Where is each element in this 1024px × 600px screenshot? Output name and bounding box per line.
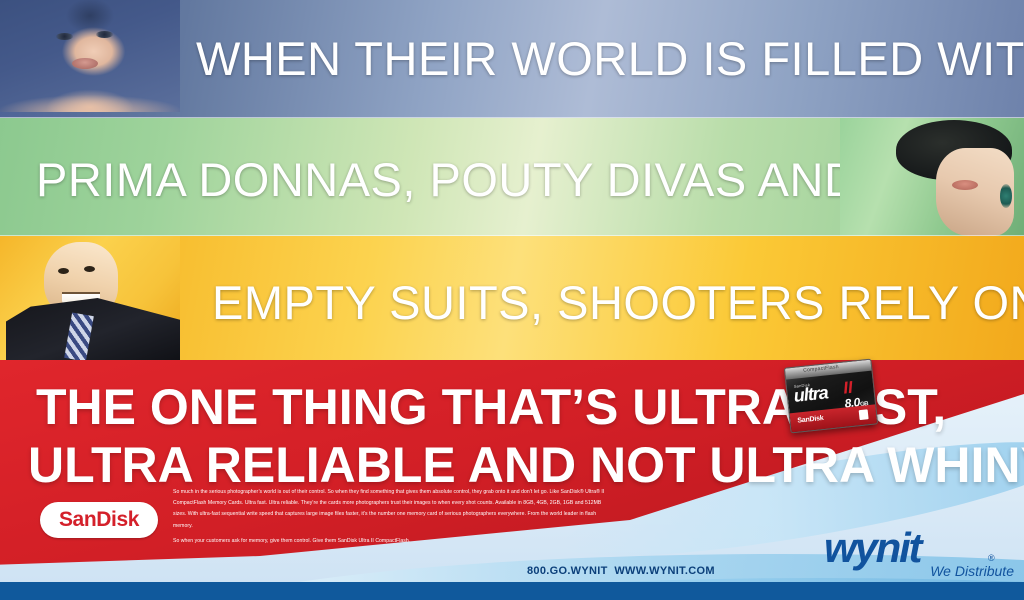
headline-line-1: WHEN THEIR WORLD IS FILLED WITH xyxy=(196,31,1024,86)
card-generation: II xyxy=(842,379,853,397)
earring xyxy=(1000,184,1012,208)
phone-number[interactable]: 800.GO.WYNIT xyxy=(527,565,608,577)
card-line-name: ultra xyxy=(793,383,829,404)
sandisk-logo: SanDisk xyxy=(40,502,158,538)
website-url[interactable]: WWW.WYNIT.COM xyxy=(614,565,714,577)
eye-left xyxy=(56,33,73,40)
registered-trademark-icon: ® xyxy=(988,553,995,563)
bottom-navy-bar xyxy=(0,582,1024,600)
headline-line-5: ULTRA RELIABLE AND NOT ULTRA WHINY. xyxy=(28,436,1024,494)
band-blue: WHEN THEIR WORLD IS FILLED WITH xyxy=(0,0,1024,118)
eye-left xyxy=(58,268,69,274)
shoulders xyxy=(0,86,180,112)
card-footer-brand: SanDisk xyxy=(797,415,824,425)
wynit-tagline: We Distribute xyxy=(930,563,1014,579)
body-paragraph-2: So when your customers ask for memory, g… xyxy=(173,536,613,547)
woman-face-photo xyxy=(0,0,180,112)
headline-line-2: PRIMA DONNAS, POUTY DIVAS AND xyxy=(36,152,858,207)
body-copy: So much in the serious photographer’s wo… xyxy=(173,487,613,551)
suit-jacket xyxy=(6,298,180,360)
eye-right xyxy=(84,266,95,272)
lips xyxy=(72,58,98,69)
body-paragraph-1: So much in the serious photographer’s wo… xyxy=(173,487,613,532)
wynit-logo: wynit ® We Distribute xyxy=(824,527,1014,579)
compactflash-card-image: CompactFlash SanDisk ultra II 8.0GB SanD… xyxy=(784,359,878,434)
card-top-label: CompactFlash xyxy=(803,364,839,374)
wynit-wordmark: wynit xyxy=(824,527,920,569)
lips xyxy=(952,180,978,190)
woman-in-hat-photo xyxy=(840,118,1024,236)
eye-right xyxy=(96,31,113,38)
contact-info: 800.GO.WYNIT WWW.WYNIT.COM xyxy=(527,565,715,577)
man-in-suit-photo xyxy=(0,236,180,360)
headline-line-3: EMPTY SUITS, SHOOTERS RELY ON xyxy=(212,275,1024,330)
sandisk-wordmark: SanDisk xyxy=(59,508,139,532)
advertisement-poster: WHEN THEIR WORLD IS FILLED WITH PRIMA DO… xyxy=(0,0,1024,600)
card-footer-mark xyxy=(859,409,869,420)
